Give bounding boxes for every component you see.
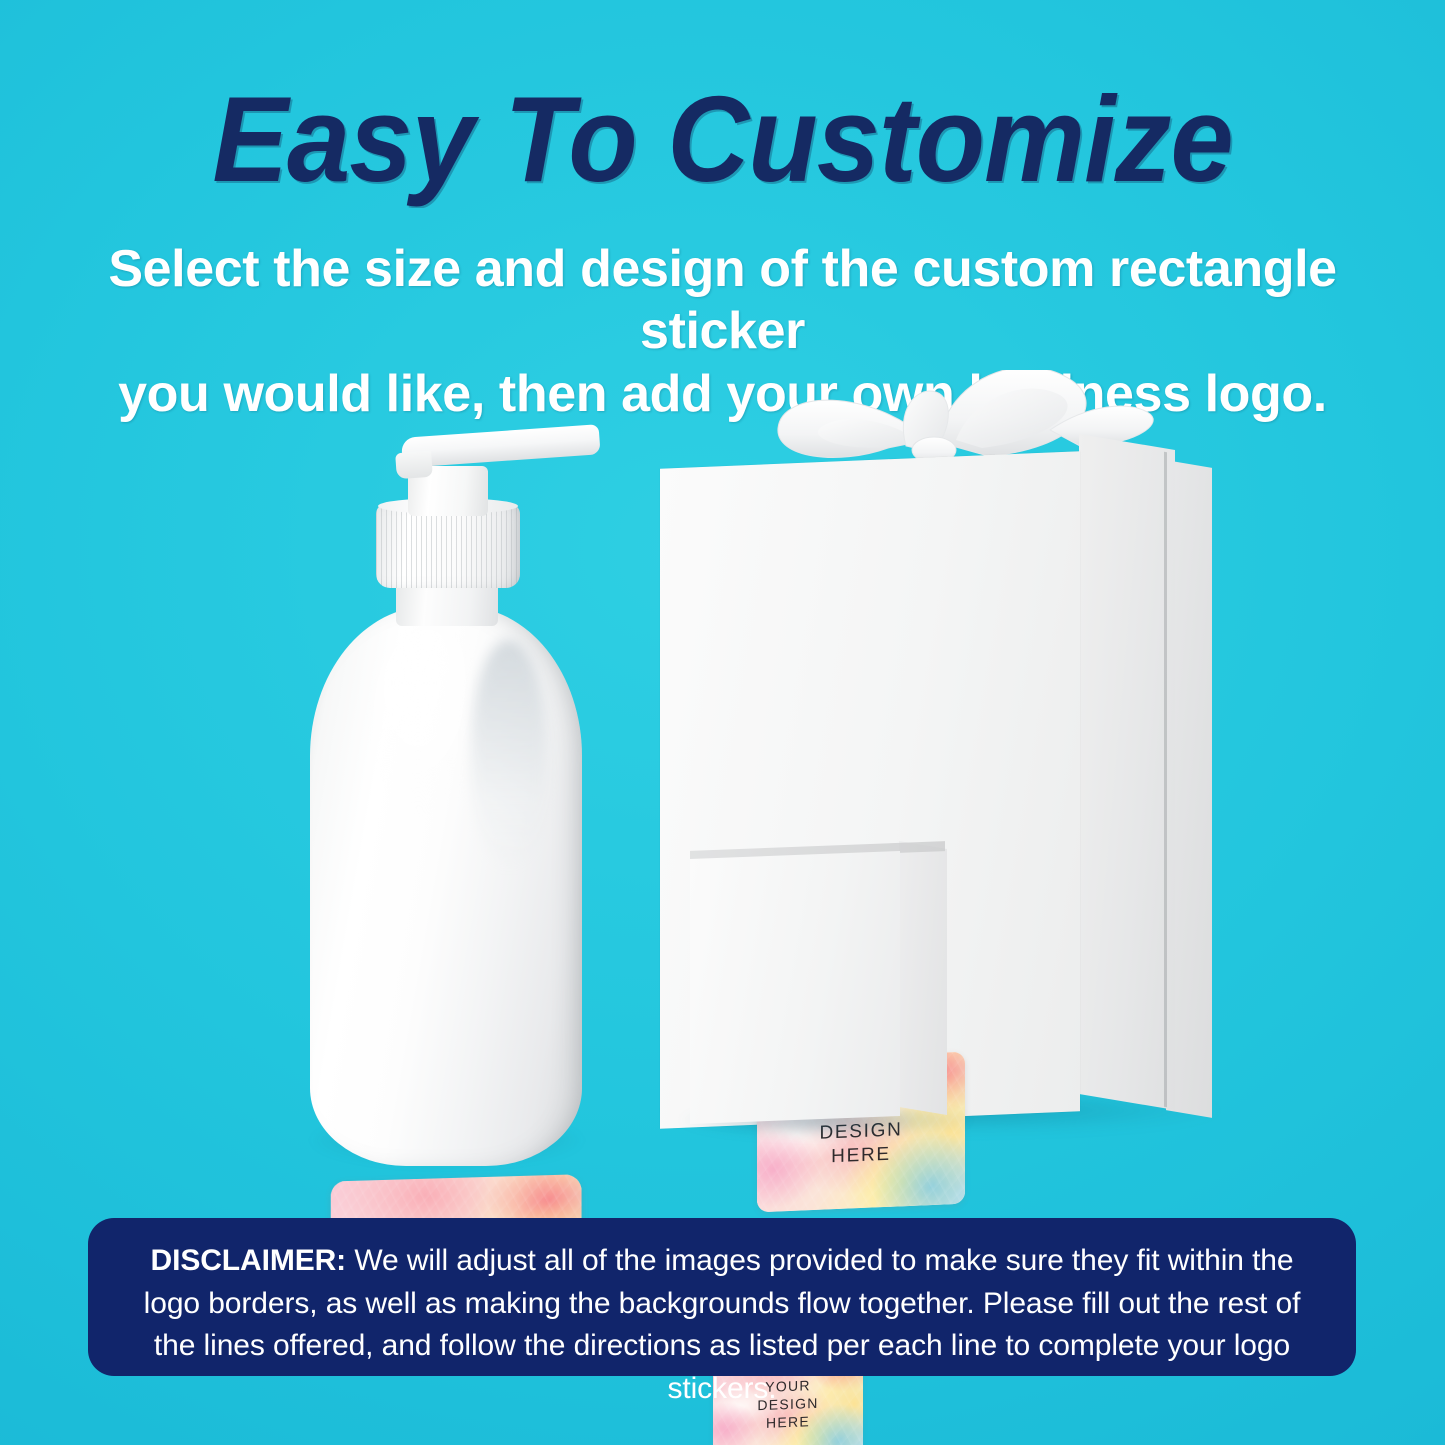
gift-box-lid-seam	[1164, 452, 1167, 1108]
sticker-line-3: HERE	[831, 1143, 891, 1170]
sticker-line-3: HERE	[766, 1412, 810, 1432]
disclaimer-label: DISCLAIMER:	[151, 1244, 347, 1277]
bottle-reflection	[472, 640, 546, 870]
disclaimer-text: DISCLAIMER: We will adjust all of the im…	[122, 1240, 1322, 1410]
disclaimer-box: DISCLAIMER: We will adjust all of the im…	[88, 1218, 1356, 1376]
promo-graphic: Easy To Customize Select the size and de…	[0, 0, 1445, 1445]
pump-collar	[376, 504, 520, 588]
pump-nozzle-lip	[395, 451, 433, 479]
product-mockup-stage: YOUR DESIGN HERE YOUR DESIGN HERE	[0, 390, 1445, 1200]
page-title: Easy To Customize	[51, 75, 1395, 203]
pump-bottle	[300, 430, 600, 1170]
subtitle-line-1: Select the size and design of the custom…	[80, 238, 1365, 363]
gift-box-side-panel	[1079, 434, 1175, 1110]
small-box-side-panel	[899, 841, 947, 1115]
small-box-front-panel	[690, 851, 900, 1124]
